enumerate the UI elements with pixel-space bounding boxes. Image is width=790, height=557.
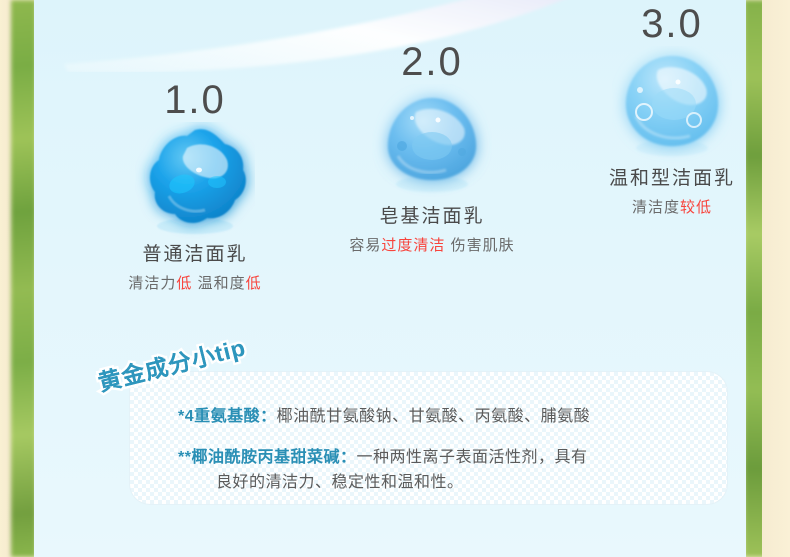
desc-part: 伤害肌肤 <box>445 237 514 254</box>
product-desc-2: 容易过度清洁 伤害肌肤 <box>334 234 530 255</box>
step-number-2: 2.0 <box>334 40 530 84</box>
tip-key-1: *4重氨基酸： <box>178 408 277 425</box>
blob-illustration-3 <box>574 46 746 164</box>
page-edge-left-foliage <box>11 0 36 557</box>
desc-part-highlight: 较低 <box>680 199 712 216</box>
product-desc-3: 清洁度较低 <box>574 196 746 217</box>
product-desc-1: 清洁力低 温和度低 <box>100 272 290 293</box>
step-card-3: 3.0 <box>574 2 746 217</box>
desc-part-highlight: 低 <box>176 275 192 292</box>
step-number-1: 1.0 <box>100 78 290 122</box>
desc-part: 温和度 <box>192 275 245 292</box>
desc-part: 清洁力 <box>128 275 176 292</box>
page-edge-right-cream <box>762 0 790 557</box>
product-name-1: 普通洁面乳 <box>100 242 290 268</box>
tip-line-1: *4重氨基酸：椰油酰甘氨酸钠、甘氨酸、丙氨酸、脯氨酸 <box>178 405 709 430</box>
desc-part: 容易 <box>349 237 381 254</box>
step-card-2: 2.0 <box>334 40 530 255</box>
tip-line-2: **椰油酰胺丙基甜菜碱：一种两性离子表面活性剂，具有 良好的清洁力、稳定性和温和… <box>178 446 709 496</box>
tip-value-2-cont: 良好的清洁力、稳定性和温和性。 <box>178 471 709 496</box>
tip-key-2: **椰油酰胺丙基甜菜碱： <box>178 449 356 466</box>
tip-value-2: 一种两性离子表面活性剂，具有 <box>356 449 587 466</box>
tip-value-1: 椰油酰甘氨酸钠、甘氨酸、丙氨酸、脯氨酸 <box>277 408 591 425</box>
desc-part: 清洁度 <box>632 199 680 216</box>
tip-panel: *4重氨基酸：椰油酰甘氨酸钠、甘氨酸、丙氨酸、脯氨酸 **椰油酰胺丙基甜菜碱：一… <box>130 372 727 504</box>
step-number-3: 3.0 <box>574 2 746 46</box>
tip-lines: *4重氨基酸：椰油酰甘氨酸钠、甘氨酸、丙氨酸、脯氨酸 **椰油酰胺丙基甜菜碱：一… <box>178 405 709 495</box>
desc-part-highlight: 过度清洁 <box>381 237 445 254</box>
product-name-2: 皂基洁面乳 <box>334 204 530 230</box>
blob-illustration-2 <box>334 84 530 202</box>
desc-part-highlight: 低 <box>246 275 262 292</box>
product-name-3: 温和型洁面乳 <box>574 166 746 192</box>
blob-illustration-1 <box>100 122 290 240</box>
step-card-1: 1.0 <box>100 78 290 293</box>
content-panel: 1.0 <box>34 0 746 557</box>
